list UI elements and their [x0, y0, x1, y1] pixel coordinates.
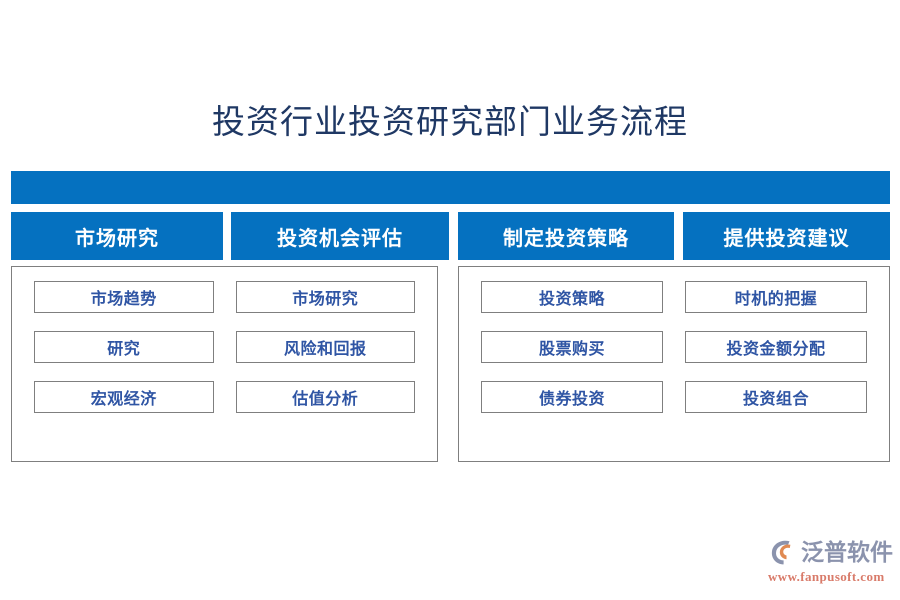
- fanpu-logo-icon: [768, 537, 798, 567]
- header-row: 市场研究 投资机会评估 制定投资策略 提供投资建议: [11, 212, 890, 260]
- header-tile-opportunity-assessment[interactable]: 投资机会评估: [231, 212, 449, 260]
- panel-row: 债券投资 投资组合: [481, 381, 867, 413]
- watermark-url: www.fanpusoft.com: [768, 569, 892, 585]
- header-tile-strategy-formulation[interactable]: 制定投资策略: [458, 212, 674, 260]
- watermark-brand-row: 泛普软件: [768, 536, 892, 568]
- investment-strategy-panel: 投资策略 时机的把握 股票购买 投资金额分配 债券投资 投资组合: [458, 266, 890, 462]
- flow-item[interactable]: 投资策略: [481, 281, 663, 313]
- flow-item[interactable]: 投资组合: [685, 381, 867, 413]
- flow-item[interactable]: 估值分析: [236, 381, 416, 413]
- watermark-logo: 泛普软件 www.fanpusoft.com: [768, 536, 892, 588]
- flowchart-page: 投资行业投资研究部门业务流程 市场研究 投资机会评估 制定投资策略 提供投资建议…: [0, 0, 900, 600]
- panel-row: 市场趋势 市场研究: [34, 281, 415, 313]
- header-tile-investment-advice[interactable]: 提供投资建议: [683, 212, 890, 260]
- panel-row: 投资策略 时机的把握: [481, 281, 867, 313]
- flow-item[interactable]: 宏观经济: [34, 381, 214, 413]
- panel-row: 股票购买 投资金额分配: [481, 331, 867, 363]
- flow-item[interactable]: 投资金额分配: [685, 331, 867, 363]
- watermark-brand-text: 泛普软件: [801, 537, 893, 567]
- header-tile-market-research[interactable]: 市场研究: [11, 212, 223, 260]
- panel-row: 研究 风险和回报: [34, 331, 415, 363]
- panel-grid: 市场趋势 市场研究 研究 风险和回报 宏观经济 估值分析: [12, 267, 437, 461]
- market-research-panel: 市场趋势 市场研究 研究 风险和回报 宏观经济 估值分析: [11, 266, 438, 462]
- flow-item[interactable]: 债券投资: [481, 381, 663, 413]
- flow-item[interactable]: 风险和回报: [236, 331, 416, 363]
- flow-item[interactable]: 市场研究: [236, 281, 416, 313]
- panel-grid: 投资策略 时机的把握 股票购买 投资金额分配 债券投资 投资组合: [459, 267, 889, 461]
- flow-item[interactable]: 股票购买: [481, 331, 663, 363]
- flow-item[interactable]: 市场趋势: [34, 281, 214, 313]
- top-blue-band: [11, 171, 890, 204]
- panel-row: 宏观经济 估值分析: [34, 381, 415, 413]
- flow-item[interactable]: 时机的把握: [685, 281, 867, 313]
- flow-item[interactable]: 研究: [34, 331, 214, 363]
- page-title: 投资行业投资研究部门业务流程: [0, 101, 900, 145]
